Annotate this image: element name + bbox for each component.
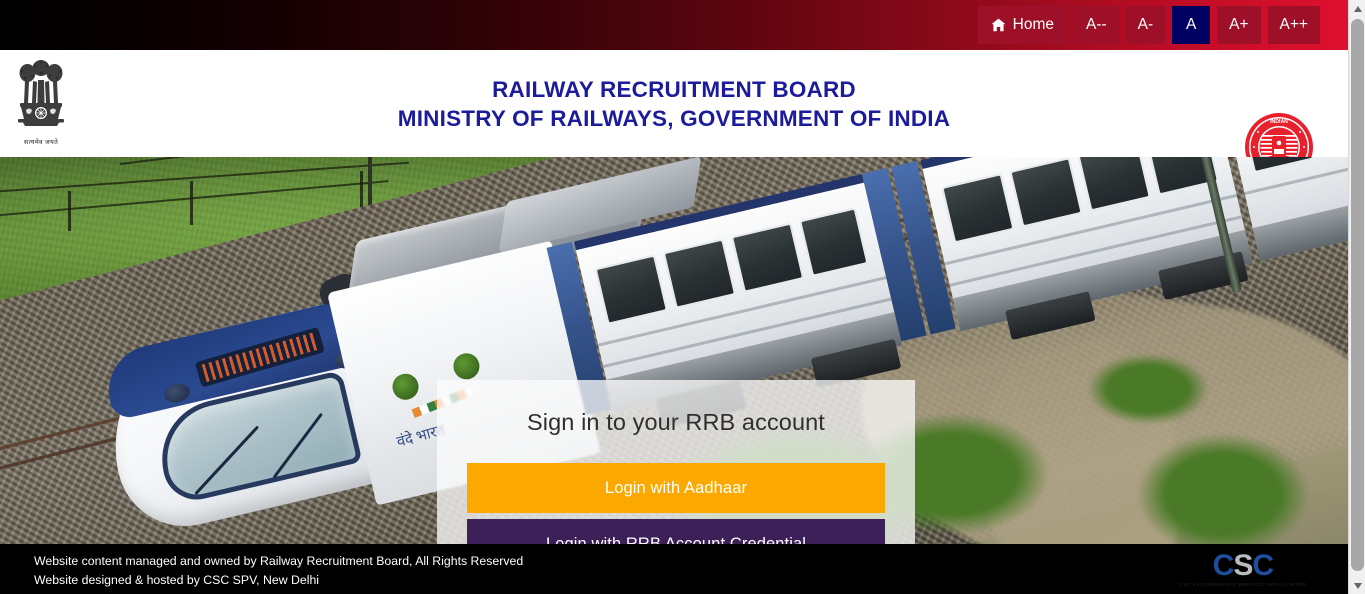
home-button[interactable]: Home [978, 6, 1067, 44]
scroll-up-arrow-icon[interactable] [1349, 0, 1365, 17]
font-increase-button[interactable]: A+ [1217, 6, 1260, 44]
coach-skirt [1253, 187, 1348, 261]
font-normal-label: A [1186, 17, 1196, 33]
csc-letter-c2: C [1252, 549, 1273, 582]
emblem-motto-text: सत्यमेव जयते [24, 137, 58, 146]
grass-patch [1088, 354, 1208, 424]
coach-window [731, 222, 805, 293]
scroll-down-arrow-icon[interactable] [1349, 577, 1365, 594]
page-root: Home A-- A- A A+ A++ [0, 0, 1365, 594]
font-decrease-double-button[interactable]: A-- [1074, 6, 1119, 44]
footer-line-1: Website content managed and owned by Rai… [34, 552, 523, 571]
title-line-2: MINISTRY OF RAILWAYS, GOVERNMENT OF INDI… [0, 104, 1348, 133]
page-title: RAILWAY RECRUITMENT BOARD MINISTRY OF RA… [0, 75, 1348, 133]
font-increase-double-button[interactable]: A++ [1268, 6, 1320, 44]
font-decrease-label: A- [1138, 17, 1154, 33]
font-increase-double-label: A++ [1280, 17, 1308, 33]
scrollbar-thumb[interactable] [1351, 19, 1364, 571]
fence-post [68, 191, 71, 231]
svg-text:INDIAN: INDIAN [1270, 119, 1288, 125]
csc-letter-s: S [1233, 549, 1252, 582]
font-increase-label: A+ [1229, 17, 1248, 33]
vertical-scrollbar[interactable] [1348, 0, 1365, 594]
home-icon [991, 18, 1006, 32]
login-with-rrb-credential-button[interactable]: Login with RRB Account Credential [467, 519, 885, 544]
accessibility-controls: Home A-- A- A A+ A++ [978, 6, 1320, 44]
coach-window [1077, 157, 1151, 212]
csc-letter-c1: C [1213, 549, 1234, 582]
csc-subtitle: CSC e-GOVERNANCE SERVICES INDIA LIMITED [1180, 582, 1306, 587]
site-footer: Website content managed and owned by Rai… [0, 544, 1348, 594]
login-card-title: Sign in to your RRB account [527, 409, 825, 436]
login-with-rrb-credential-label: Login with RRB Account Credential [546, 535, 806, 545]
login-with-aadhaar-button[interactable]: Login with Aadhaar [467, 463, 885, 513]
login-with-aadhaar-label: Login with Aadhaar [605, 479, 747, 498]
coach-window [799, 207, 869, 277]
coach-window [1241, 157, 1315, 173]
csc-wordmark: CSC [1180, 551, 1306, 581]
footer-line-2: Website designed & hosted by CSC SPV, Ne… [34, 571, 523, 590]
site-header: सत्यमेव जयते RAILWAY RECRUITMENT BOARD M… [0, 50, 1348, 157]
font-decrease-button[interactable]: A- [1126, 6, 1166, 44]
font-normal-button[interactable]: A [1172, 6, 1210, 44]
hero-background-image: वंदे भारत [0, 157, 1348, 544]
csc-logo-icon: CSC CSC e-GOVERNANCE SERVICES INDIA LIMI… [1180, 551, 1306, 587]
top-utility-bar: Home A-- A- A A+ A++ [0, 0, 1348, 50]
footer-text-block: Website content managed and owned by Rai… [34, 552, 523, 590]
coach-window [663, 238, 737, 309]
home-button-label: Home [1013, 17, 1054, 33]
font-decrease-double-label: A-- [1086, 17, 1107, 33]
coach-window [1009, 157, 1083, 228]
coach-window [941, 173, 1015, 244]
title-line-1: RAILWAY RECRUITMENT BOARD [492, 77, 856, 102]
login-card: Sign in to your RRB account Login with A… [437, 380, 915, 544]
grass-patch [1138, 434, 1308, 544]
coach-window [594, 254, 668, 325]
